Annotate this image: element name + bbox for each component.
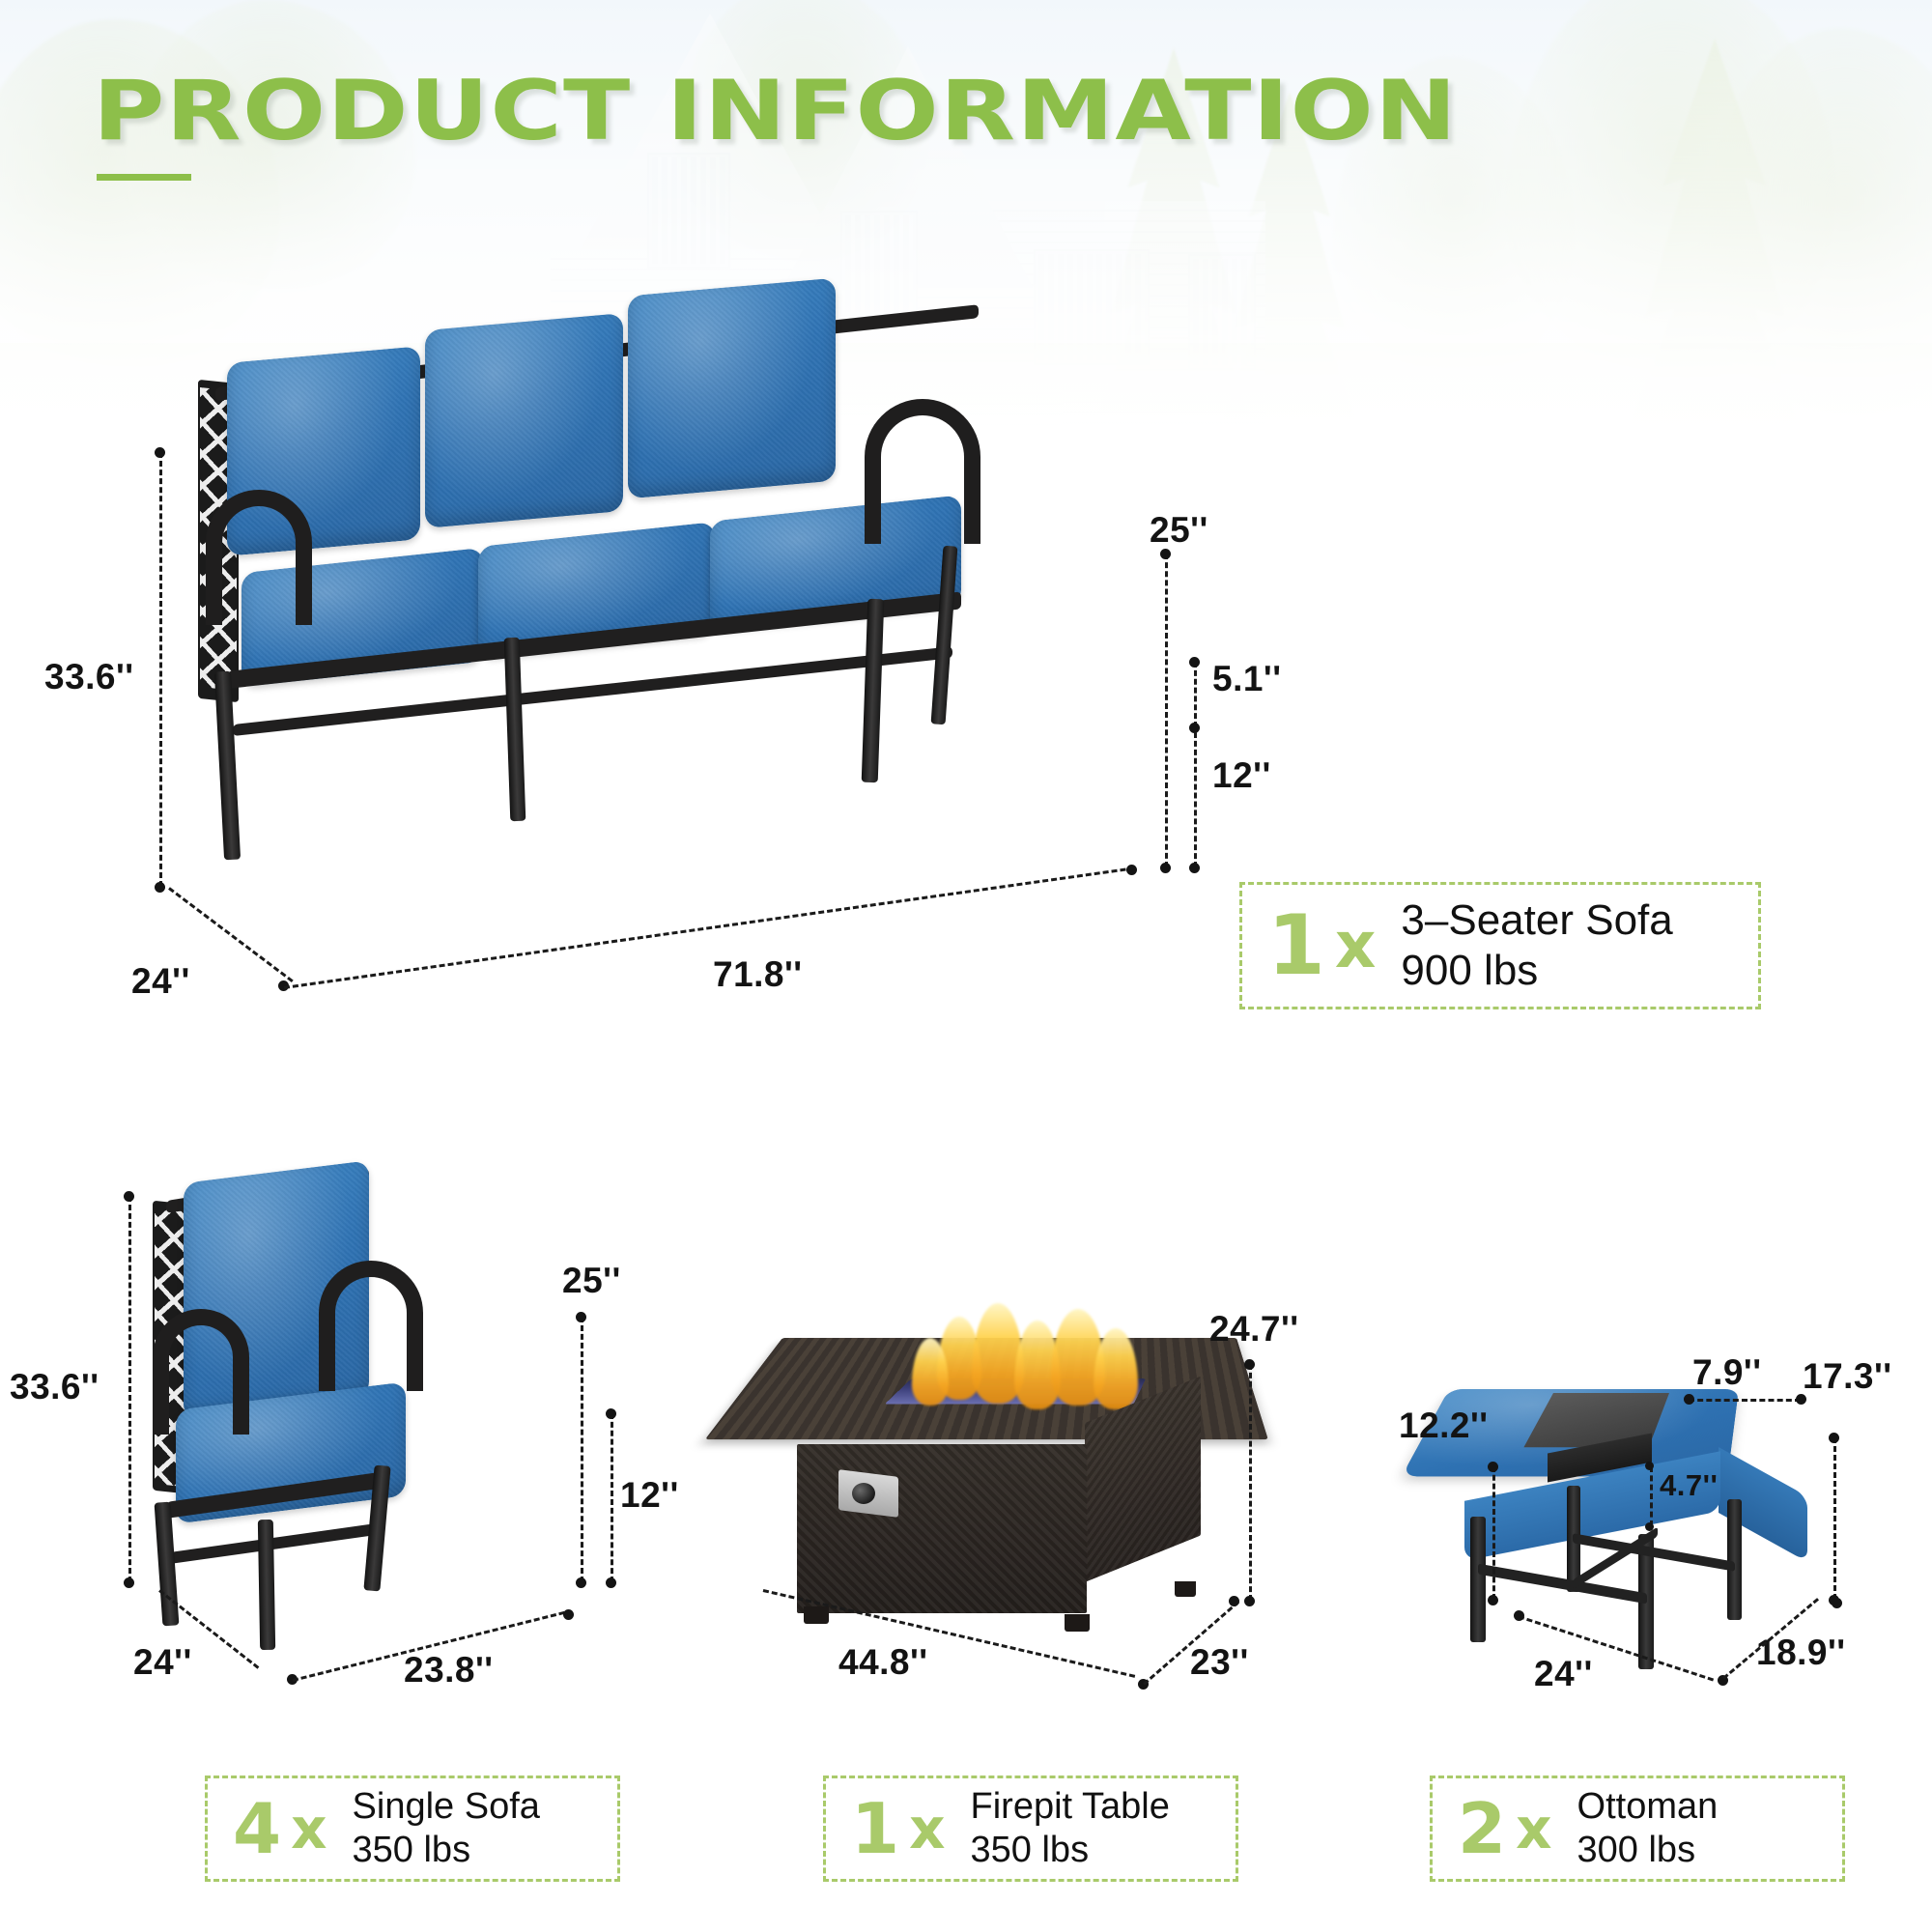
title-underline-rule [97, 174, 191, 181]
ottoman-leg-rear-right [1727, 1499, 1742, 1620]
legend-x-symbol-ottoman: x [1516, 1801, 1551, 1857]
legend-quantity-single-sofa: 4 [233, 1794, 281, 1863]
legend-quantity-firepit: 1 [851, 1794, 899, 1863]
firepit-foot-rear [1175, 1581, 1196, 1597]
legend-x-symbol-firepit: x [909, 1801, 945, 1857]
ottoman-overall-height-label: 17.3'' [1803, 1356, 1892, 1397]
ottoman-stretcher-front [1478, 1564, 1647, 1605]
legend-single-sofa: 4 x Single Sofa 350 lbs [205, 1776, 620, 1882]
page-title: PRODUCT INFORMATION [93, 70, 1458, 153]
firepit-depth-label: 23'' [1190, 1642, 1249, 1683]
chair-width-dot [563, 1609, 574, 1620]
ottoman-overall-height-line [1833, 1437, 1836, 1600]
sofa-arm-left [206, 490, 312, 625]
sofa-back-height-dot-bottom [1160, 863, 1171, 873]
ottoman-width-label: 24'' [1534, 1654, 1593, 1694]
firepit-foot-left [804, 1606, 829, 1624]
chair-back-height-dot-bottom [576, 1577, 586, 1588]
sofa-back-cushion-right [628, 278, 836, 499]
chair-height-dot-top [124, 1191, 134, 1202]
legend-product-name-sofa: 3–Seater Sofa [1401, 895, 1672, 946]
firepit-height-dot-top [1244, 1359, 1255, 1370]
chair-lower-stretcher [170, 1522, 384, 1564]
legend-ottoman: 2 x Ottoman 300 lbs [1430, 1776, 1845, 1882]
ottoman-leg-front-left [1470, 1517, 1486, 1642]
firepit-height-dot-bottom [1244, 1596, 1255, 1606]
sofa-back-height-label: 25'' [1150, 510, 1208, 551]
chair-seat-height-line [611, 1413, 613, 1582]
three-seater-sofa-illustration [188, 382, 1135, 908]
firepit-foot-right [1065, 1614, 1090, 1632]
firepit-height-label: 24.7'' [1209, 1309, 1299, 1350]
legend-x-symbol-single-sofa: x [291, 1801, 327, 1857]
chair-arm-right [319, 1261, 423, 1391]
firepit-height-line [1249, 1364, 1252, 1601]
chair-seat-height-dot-bottom [606, 1577, 616, 1588]
ottoman-leg-dot-bottom [1488, 1595, 1498, 1605]
legend-three-seater-sofa: 1 x 3–Seater Sofa 900 lbs [1239, 882, 1761, 1009]
firepit-table-illustration [782, 1299, 1265, 1618]
firepit-depth-dot [1229, 1596, 1239, 1606]
sofa-width-label: 71.8'' [713, 954, 803, 995]
firepit-control-knob [852, 1483, 875, 1504]
ottoman-illustration [1449, 1372, 1816, 1662]
legend-product-weight-ottoman: 300 lbs [1577, 1829, 1719, 1872]
title-block: PRODUCT INFORMATION [93, 70, 1250, 181]
ottoman-tray-drop-line [1650, 1466, 1653, 1526]
legend-product-name-ottoman: Ottoman [1577, 1785, 1719, 1829]
ottoman-leg-height-line [1492, 1466, 1495, 1600]
sofa-seat-height-label: 12'' [1212, 755, 1271, 796]
chair-depth-label: 24'' [133, 1642, 192, 1683]
ottoman-tray-width-line [1689, 1399, 1801, 1402]
sofa-height-label: 33.6'' [44, 657, 134, 697]
sofa-cushion-thickness-line [1194, 662, 1197, 727]
sofa-width-dot [1126, 865, 1137, 875]
ottoman-width-dot-left [1514, 1610, 1524, 1621]
sofa-height-dot-top [155, 447, 165, 458]
legend-quantity-ottoman: 2 [1458, 1794, 1506, 1863]
ottoman-tray-drop-dot-top [1645, 1462, 1654, 1470]
legend-product-name-firepit: Firepit Table [971, 1785, 1170, 1829]
chair-back-height-line [581, 1317, 583, 1582]
ottoman-overall-dot-top [1829, 1433, 1839, 1443]
legend-product-weight-single-sofa: 350 lbs [353, 1829, 540, 1872]
ottoman-tray-width-dot-left [1684, 1394, 1694, 1405]
chair-width-label: 23.8'' [404, 1650, 494, 1690]
chair-seat-height-dot-top [606, 1408, 616, 1419]
ottoman-depth-dot [1832, 1598, 1842, 1608]
sofa-seat-height-dot-bottom [1189, 863, 1200, 873]
sofa-depth-label: 24'' [131, 961, 190, 1002]
sofa-arm-right [865, 399, 980, 544]
chair-leg-front-left [155, 1502, 180, 1627]
sofa-back-cushion-center [425, 313, 623, 528]
sofa-cushion-thickness-label: 5.1'' [1212, 659, 1282, 699]
chair-leg-front-center [258, 1520, 275, 1650]
chair-back-height-label: 25'' [562, 1261, 621, 1301]
legend-quantity-sofa: 1 [1267, 904, 1325, 987]
single-sofa-illustration [145, 1212, 464, 1628]
sofa-leg-front-center [504, 638, 526, 821]
chair-height-label: 33.6'' [10, 1367, 99, 1407]
legend-firepit-table: 1 x Firepit Table 350 lbs [823, 1776, 1238, 1882]
firepit-length-label: 44.8'' [838, 1642, 928, 1683]
chair-seat-height-label: 12'' [620, 1475, 679, 1516]
ottoman-tray-drop-dot-bottom [1645, 1522, 1654, 1531]
legend-product-weight-firepit: 350 lbs [971, 1829, 1170, 1872]
legend-product-name-single-sofa: Single Sofa [353, 1785, 540, 1829]
sofa-back-height-line [1165, 554, 1168, 867]
ottoman-tray-drop-label: 4.7'' [1660, 1468, 1718, 1503]
sofa-back-height-dot-top [1160, 549, 1171, 559]
sofa-leg-front-right [862, 599, 885, 782]
ottoman-leg-height-label: 12.2'' [1399, 1406, 1489, 1446]
sofa-height-dot-bottom [155, 882, 165, 893]
chair-arm-left [153, 1309, 249, 1435]
legend-product-weight-sofa: 900 lbs [1401, 946, 1672, 996]
ottoman-leg-dot-top [1488, 1462, 1498, 1472]
ottoman-tray-width-label: 7.9'' [1692, 1352, 1762, 1393]
sofa-height-line [159, 452, 162, 887]
chair-back-height-dot-top [576, 1312, 586, 1322]
chair-height-dot-bottom [124, 1577, 134, 1588]
legend-x-symbol-sofa: x [1335, 914, 1377, 978]
sofa-cushion-dot-top [1189, 657, 1200, 668]
sofa-seat-height-line [1194, 732, 1197, 867]
chair-height-line [128, 1196, 131, 1582]
